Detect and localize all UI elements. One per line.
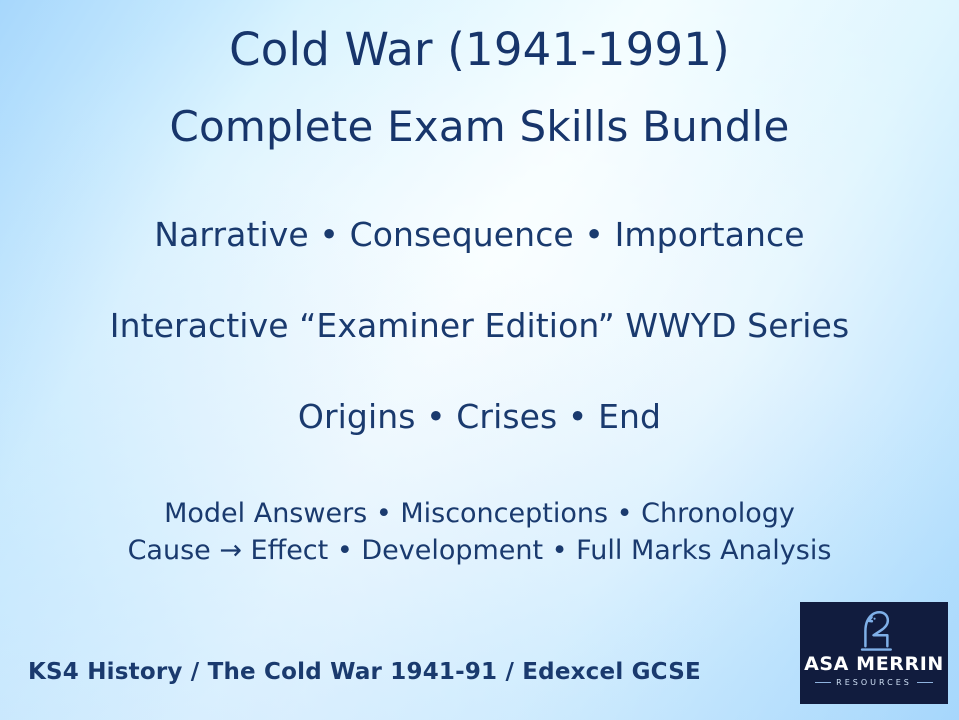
rule-right-icon [917,682,933,683]
brand-subtitle-row: RESOURCES [815,678,933,687]
sub-line-2: Cause → Effect • Development • Full Mark… [0,532,959,569]
slide-title-line-1: Cold War (1941-1991) [0,22,959,78]
rule-left-icon [815,682,831,683]
sub-line-1: Model Answers • Misconceptions • Chronol… [0,495,959,532]
title-block: Cold War (1941-1991) Complete Exam Skill… [0,22,959,156]
bullet-lines-group: Narrative • Consequence • Importance Int… [0,214,959,438]
brand-name: ASA MERRIN [804,654,944,675]
knight-chess-piece-icon [853,608,895,652]
bullet-line-3: Origins • Crises • End [0,396,959,438]
bullet-line-2: Interactive “Examiner Edition” WWYD Seri… [0,305,959,347]
brand-logo: ASA MERRIN RESOURCES [800,602,948,704]
brand-subtitle: RESOURCES [831,678,917,687]
sub-lines-group: Model Answers • Misconceptions • Chronol… [0,495,959,569]
presentation-slide: Cold War (1941-1991) Complete Exam Skill… [0,0,959,720]
slide-title-line-2: Complete Exam Skills Bundle [0,98,959,156]
slide-footer: KS4 History / The Cold War 1941-91 / Ede… [28,656,701,688]
bullet-line-1: Narrative • Consequence • Importance [0,214,959,256]
slide-content: Cold War (1941-1991) Complete Exam Skill… [0,0,959,720]
